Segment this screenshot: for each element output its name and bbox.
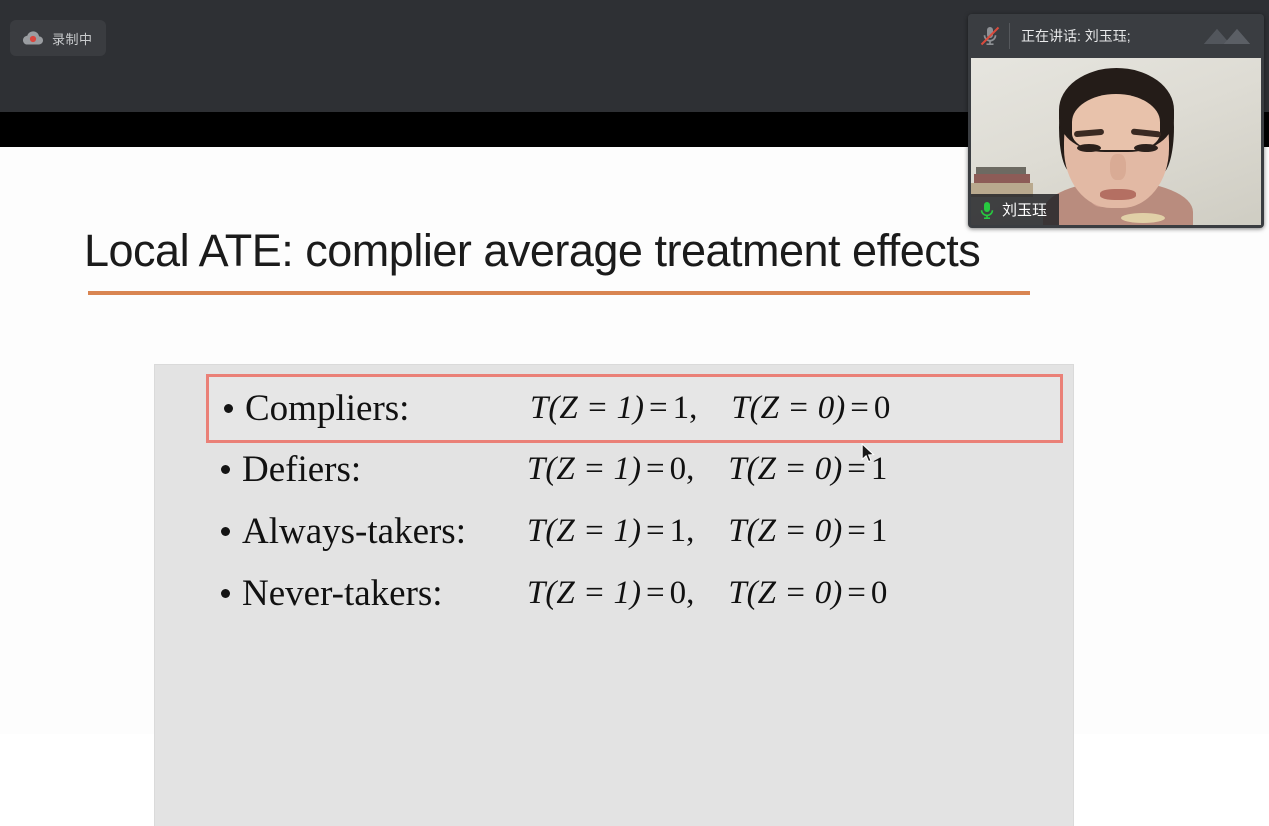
title-underline-rule [88, 291, 1030, 295]
equation-rhs: 1 [673, 390, 690, 426]
equals-sign: = [641, 451, 670, 487]
equals-sign-2: = [845, 390, 874, 426]
equals-sign-2: = [842, 451, 871, 487]
stratum-equations: T(Z = 1)=0,T(Z = 0)=1 [527, 451, 887, 488]
equation2-rhs: 0 [871, 575, 888, 611]
mic-on-icon [979, 200, 995, 220]
equation-lhs: T(Z = 1) [527, 513, 641, 549]
video-person-eye [1077, 144, 1101, 152]
principal-strata-list: Compliers: T(Z = 1)=1,T(Z = 0)=0 Defiers… [155, 365, 1073, 826]
video-person-mouth [1100, 189, 1136, 200]
list-item[interactable]: Never-takers: T(Z = 1)=0,T(Z = 0)=0 [206, 559, 1063, 628]
stratum-label: Never-takers: [242, 572, 527, 615]
participant-name-badge: 刘玉珏 [971, 194, 1059, 225]
video-object-book [976, 167, 1026, 174]
comma-separator: , [689, 390, 697, 426]
header-divider [1009, 23, 1010, 49]
slide-figure-block: Compliers: T(Z = 1)=1,T(Z = 0)=0 Defiers… [155, 365, 1073, 826]
bullet-dot-icon [221, 589, 230, 598]
equation2-lhs: T(Z = 0) [731, 390, 845, 426]
cloud-record-icon [22, 30, 44, 46]
equation2-lhs: T(Z = 0) [728, 575, 842, 611]
equation2-rhs: 0 [874, 390, 891, 426]
equals-sign-2: = [842, 575, 871, 611]
comma-separator: , [686, 451, 694, 487]
equation2-lhs: T(Z = 0) [728, 513, 842, 549]
comma-separator: , [686, 513, 694, 549]
bullet-dot-icon [224, 404, 233, 413]
presentation-slide: Local ATE: complier average treatment ef… [0, 147, 1269, 734]
recording-indicator[interactable]: 录制中 [10, 20, 106, 56]
stratum-equations: T(Z = 1)=1,T(Z = 0)=0 [530, 390, 890, 427]
speaking-status-label: 正在讲话: 刘玉珏; [1021, 26, 1200, 46]
equation-lhs: T(Z = 1) [527, 575, 641, 611]
comma-separator: , [686, 575, 694, 611]
stratum-equations: T(Z = 1)=0,T(Z = 0)=0 [527, 575, 887, 612]
equals-sign-2: = [842, 513, 871, 549]
participant-video-feed: 刘玉珏 [971, 58, 1261, 225]
video-object-book [974, 174, 1030, 183]
video-person-eye [1134, 144, 1158, 152]
speaker-video-panel[interactable]: 正在讲话: 刘玉珏; [968, 14, 1264, 228]
video-person-nose [1110, 154, 1126, 180]
equation2-rhs: 1 [871, 451, 888, 487]
recording-label: 录制中 [52, 29, 93, 48]
equals-sign: = [644, 390, 673, 426]
video-person-forehead [1072, 94, 1160, 150]
stratum-label: Always-takers: [242, 510, 527, 553]
stratum-label: Defiers: [242, 448, 527, 491]
bullet-dot-icon [221, 527, 230, 536]
stratum-equations: T(Z = 1)=1,T(Z = 0)=1 [527, 513, 887, 550]
list-item[interactable]: Always-takers: T(Z = 1)=1,T(Z = 0)=1 [206, 497, 1063, 566]
equals-sign: = [641, 513, 670, 549]
equation-rhs: 1 [670, 513, 687, 549]
list-item[interactable]: Defiers: T(Z = 1)=0,T(Z = 0)=1 [206, 435, 1063, 504]
slide-title: Local ATE: complier average treatment ef… [84, 225, 980, 277]
list-item[interactable]: Compliers: T(Z = 1)=1,T(Z = 0)=0 [206, 374, 1063, 443]
equation-lhs: T(Z = 1) [527, 451, 641, 487]
equation2-rhs: 1 [871, 513, 888, 549]
equation-rhs: 0 [670, 451, 687, 487]
video-person-necklace [1121, 213, 1165, 223]
bullet-dot-icon [221, 465, 230, 474]
double-chevron-up-icon[interactable] [1200, 22, 1254, 50]
participant-name: 刘玉珏 [1002, 199, 1047, 220]
equation-rhs: 0 [670, 575, 687, 611]
equals-sign: = [641, 575, 670, 611]
stratum-label: Compliers: [245, 387, 530, 430]
video-panel-header: 正在讲话: 刘玉珏; [968, 14, 1264, 58]
mic-muted-icon[interactable] [977, 23, 1003, 49]
equation2-lhs: T(Z = 0) [728, 451, 842, 487]
equation-lhs: T(Z = 1) [530, 390, 644, 426]
